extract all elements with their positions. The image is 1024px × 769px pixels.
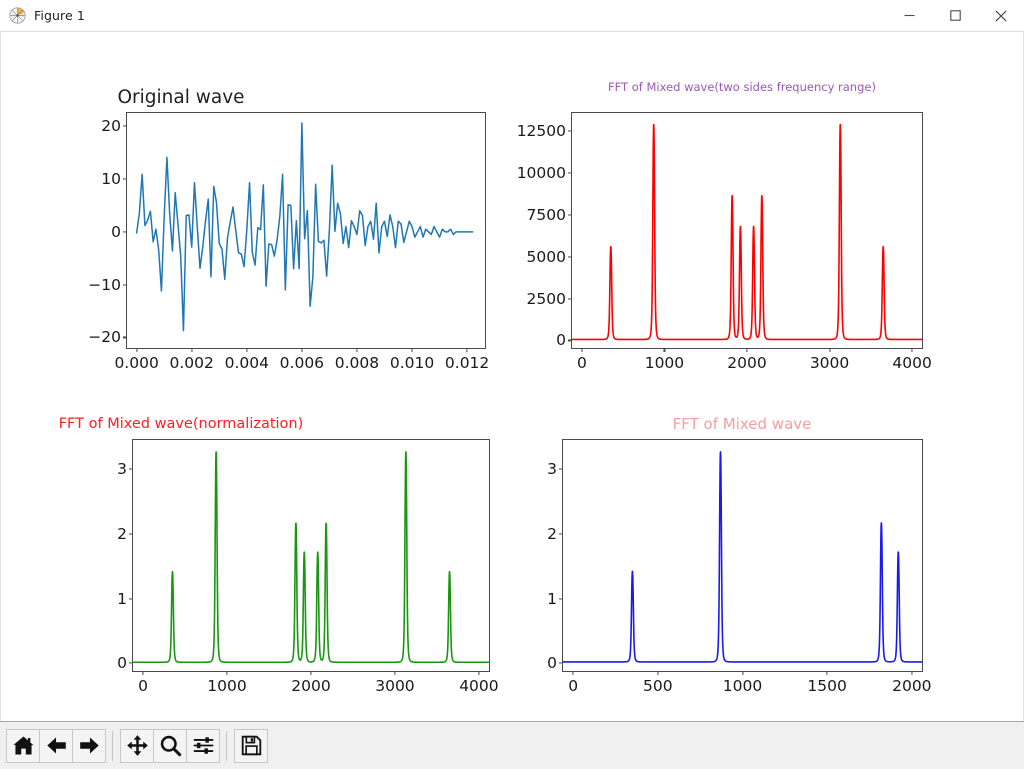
- y-tick-mark: [123, 284, 127, 285]
- x-tick-mark: [827, 671, 828, 675]
- maximize-icon: [950, 10, 961, 21]
- x-tick-mark: [356, 348, 357, 352]
- y-tick-label: −20: [88, 328, 121, 346]
- minimize-icon: [904, 10, 915, 21]
- move-arrows-icon: [126, 734, 149, 757]
- y-tick-label: 1: [547, 590, 557, 608]
- plot-line-layer: [127, 113, 485, 348]
- x-tick-mark: [478, 671, 479, 675]
- window-title: Figure 1: [34, 8, 85, 23]
- navigation-toolbar: [0, 721, 1024, 769]
- y-tick-mark: [123, 126, 127, 127]
- x-tick-mark: [657, 671, 658, 675]
- y-tick-label: 3: [547, 460, 557, 478]
- forward-button[interactable]: [72, 729, 106, 763]
- y-tick-label: 0: [117, 654, 127, 672]
- x-tick-label: 0: [138, 677, 148, 695]
- x-tick-mark: [310, 671, 311, 675]
- x-tick-label: 1000: [207, 677, 246, 695]
- y-tick-mark: [123, 178, 127, 179]
- x-tick-label: 2000: [727, 354, 766, 372]
- y-tick-mark: [568, 298, 572, 299]
- subplot-title-original-wave: Original wave: [0, 87, 431, 108]
- pan-button[interactable]: [120, 729, 154, 763]
- plot-area-original-wave[interactable]: −20−10010200.0000.0020.0040.0060.0080.01…: [126, 112, 486, 349]
- x-tick-label: 0: [568, 677, 578, 695]
- figure-window: Figure 1: [0, 0, 1024, 769]
- arrow-left-icon: [45, 734, 68, 757]
- y-tick-label: 20: [101, 117, 121, 135]
- arrow-right-icon: [78, 734, 101, 757]
- y-tick-mark: [129, 663, 133, 664]
- x-tick-mark: [467, 348, 468, 352]
- configure-subplots-button[interactable]: [186, 729, 220, 763]
- x-tick-label: 0: [577, 354, 587, 372]
- plot-area-fft-normalized[interactable]: 012301000200030004000: [132, 439, 490, 672]
- x-tick-mark: [301, 348, 302, 352]
- x-tick-mark: [911, 671, 912, 675]
- subplot-title-fft-normalized: FFT of Mixed wave(normalization): [0, 416, 431, 432]
- x-tick-label: 0.010: [390, 354, 434, 372]
- y-tick-label: 5000: [527, 248, 566, 266]
- y-tick-mark: [568, 173, 572, 174]
- x-tick-mark: [246, 348, 247, 352]
- plot-area-fft-two-sided[interactable]: 0250050007500100001250001000200030004000: [571, 112, 923, 349]
- subplot-title-fft-one-sided: FFT of Mixed wave: [481, 415, 1003, 433]
- matplotlib-figure: Original wave −20−10010200.0000.0020.004…: [1, 32, 1023, 721]
- close-icon: [995, 10, 1007, 22]
- window-controls: [886, 0, 1024, 31]
- y-tick-mark: [123, 337, 127, 338]
- x-tick-label: 0.000: [114, 354, 158, 372]
- x-tick-label: 1500: [807, 677, 846, 695]
- x-tick-mark: [191, 348, 192, 352]
- x-tick-label: 4000: [459, 677, 498, 695]
- subplot-fft-two-sided: FFT of Mixed wave(two sides frequency ra…: [501, 32, 1023, 377]
- x-tick-label: 3000: [810, 354, 849, 372]
- x-tick-label: 1000: [723, 677, 762, 695]
- x-tick-label: 4000: [892, 354, 931, 372]
- plot-line-layer: [133, 440, 489, 671]
- home-icon: [12, 734, 35, 757]
- x-tick-mark: [136, 348, 137, 352]
- y-tick-label: 10: [101, 170, 121, 188]
- y-tick-mark: [568, 131, 572, 132]
- y-tick-label: 0: [547, 654, 557, 672]
- title-bar: Figure 1: [0, 0, 1024, 32]
- y-tick-mark: [559, 533, 563, 534]
- plot-line-layer: [572, 113, 922, 348]
- x-tick-mark: [912, 348, 913, 352]
- toolbar-separator-2: [226, 731, 227, 761]
- y-tick-label: 0: [556, 331, 566, 349]
- x-tick-label: 1000: [645, 354, 684, 372]
- zoom-button[interactable]: [153, 729, 187, 763]
- x-tick-label: 2000: [892, 677, 931, 695]
- magnifier-icon: [159, 734, 182, 757]
- y-tick-label: 7500: [527, 206, 566, 224]
- y-tick-mark: [559, 663, 563, 664]
- y-tick-label: 2: [547, 525, 557, 543]
- x-tick-label: 0.006: [280, 354, 324, 372]
- y-tick-mark: [129, 598, 133, 599]
- y-tick-mark: [123, 231, 127, 232]
- x-tick-label: 2000: [291, 677, 330, 695]
- x-tick-label: 500: [643, 677, 673, 695]
- y-tick-label: −10: [88, 276, 121, 294]
- matplotlib-icon: [9, 7, 26, 24]
- save-button[interactable]: [234, 729, 268, 763]
- y-tick-label: 2: [117, 525, 127, 543]
- y-tick-label: 3: [117, 460, 127, 478]
- home-button[interactable]: [6, 729, 40, 763]
- y-tick-label: 2500: [527, 290, 566, 308]
- x-tick-mark: [573, 671, 574, 675]
- subplot-fft-normalized: FFT of Mixed wave(normalization) 0123010…: [1, 377, 501, 721]
- subplot-original-wave: Original wave −20−10010200.0000.0020.004…: [1, 32, 501, 377]
- sliders-icon: [192, 734, 215, 757]
- y-tick-mark: [129, 533, 133, 534]
- y-tick-label: 1: [117, 590, 127, 608]
- title-bar-left: Figure 1: [0, 7, 85, 24]
- toolbar-separator-1: [112, 731, 113, 761]
- y-tick-label: 10000: [517, 164, 566, 182]
- x-tick-mark: [581, 348, 582, 352]
- x-tick-label: 0.012: [445, 354, 489, 372]
- y-tick-mark: [568, 214, 572, 215]
- y-tick-label: 12500: [517, 122, 566, 140]
- y-tick-mark: [568, 340, 572, 341]
- x-tick-label: 0.002: [170, 354, 214, 372]
- subplot-title-fft-two-sided: FFT of Mixed wave(two sides frequency ra…: [481, 80, 1003, 94]
- minimize-button[interactable]: [886, 0, 932, 31]
- back-button[interactable]: [39, 729, 73, 763]
- plot-area-fft-one-sided[interactable]: 01230500100015002000: [562, 439, 923, 672]
- x-tick-mark: [143, 671, 144, 675]
- x-tick-label: 3000: [375, 677, 414, 695]
- y-tick-label: 0: [111, 223, 121, 241]
- x-tick-mark: [226, 671, 227, 675]
- y-tick-mark: [559, 469, 563, 470]
- y-tick-mark: [559, 598, 563, 599]
- floppy-disk-icon: [240, 734, 263, 757]
- x-tick-mark: [411, 348, 412, 352]
- figure-canvas-area[interactable]: Original wave −20−10010200.0000.0020.004…: [0, 32, 1024, 721]
- x-tick-mark: [742, 671, 743, 675]
- x-tick-mark: [746, 348, 747, 352]
- x-tick-mark: [394, 671, 395, 675]
- x-tick-mark: [664, 348, 665, 352]
- x-tick-label: 0.008: [335, 354, 379, 372]
- x-tick-mark: [829, 348, 830, 352]
- y-tick-mark: [129, 469, 133, 470]
- maximize-button[interactable]: [932, 0, 978, 31]
- y-tick-mark: [568, 256, 572, 257]
- subplot-fft-one-sided: FFT of Mixed wave 01230500100015002000: [501, 377, 1023, 721]
- close-button[interactable]: [978, 0, 1024, 31]
- x-tick-label: 0.004: [225, 354, 269, 372]
- plot-line-layer: [563, 440, 922, 671]
